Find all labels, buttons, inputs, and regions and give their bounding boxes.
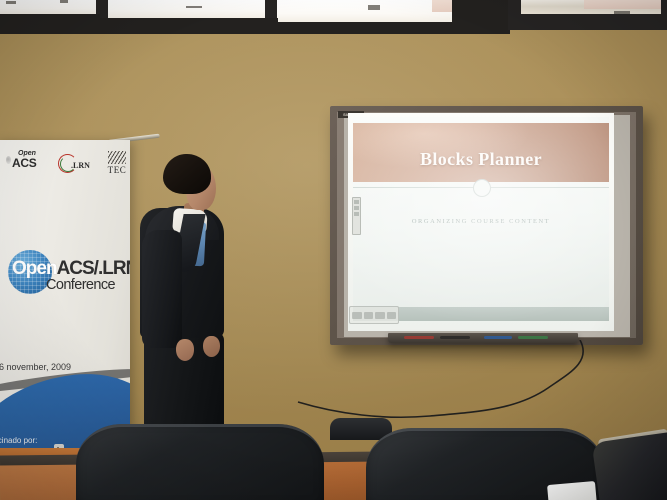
window-glass-3 [277,0,452,22]
toolbar-button-3[interactable] [375,312,385,319]
slide-subtitle: ORGANIZING COURSE CONTENT [353,218,609,225]
clerestory-window-band [0,0,667,34]
toolbar-button-4[interactable] [387,312,397,319]
side-tool-button-1[interactable] [354,200,359,204]
soffit-1 [0,14,100,34]
presentation-slide[interactable]: Blocks Planner ORGANIZING COURSE CONTENT [353,117,609,321]
tec-logo-text: TEC [102,165,130,175]
tec-mark-icon [108,151,126,164]
smart-side-toolbar[interactable] [352,197,361,235]
conference-banner: Open ACS .LRN TEC OpenACS/.LRN Conferenc… [0,140,130,460]
green-pen[interactable] [518,336,548,339]
presenter-hair [163,154,211,194]
window-object-4 [368,5,380,10]
dotlrn-logo: .LRN [58,154,92,174]
openacs-logo-line2: ACS [12,157,36,169]
openacs-dot-icon [6,156,11,164]
soffit-gap [452,0,510,34]
window-tint-1 [432,0,452,12]
bag[interactable] [592,432,667,500]
toolbar-button-2[interactable] [364,312,374,319]
window-object-3 [186,6,202,8]
side-tool-button-3[interactable] [354,212,359,216]
presenter-arm [142,230,182,348]
window-object-2 [60,0,68,3]
window-glass-2 [108,0,278,18]
soffit-2 [96,18,278,34]
window-tint-2 [584,0,661,9]
tec-logo: TEC [102,151,130,175]
presentation-control-toolbar[interactable] [349,306,399,324]
chair-left-rim [76,424,324,500]
banner-headline-rest: ACS/.LRN [57,258,130,279]
side-tool-button-2[interactable] [354,206,359,210]
red-pen[interactable] [404,336,434,339]
openacs-logo: Open ACS [12,150,36,169]
black-pen[interactable] [440,336,470,339]
slide-decorative-circle [473,179,491,197]
window-object-1 [6,1,16,4]
banner-headline-open: Open [12,258,57,279]
window-object-5 [614,11,630,14]
chair-left[interactable] [76,424,324,500]
presenter-hand-right [203,336,220,357]
banner-headline-sub: Conference [46,277,115,293]
slide-title: Blocks Planner [353,149,609,170]
soffit-3 [265,22,465,34]
paper-sheet[interactable] [547,481,597,500]
banner-logo-row: Open ACS .LRN TEC [4,148,126,178]
blue-pen[interactable] [484,336,512,339]
toolbar-button-1[interactable] [352,312,362,319]
banner-sponsor-label: atrocinado por: [0,436,37,445]
banner-date: 3 - 6 november, 2009 [0,362,71,372]
projection-screen[interactable]: Blocks Planner ORGANIZING COURSE CONTENT [348,113,614,331]
presenter-hand-left [176,339,194,361]
smart-board-pen-tray[interactable] [388,333,578,343]
banner-headline-block: OpenACS/.LRN Conference [0,248,130,302]
photo-scene: SMART Blocks Planner ORGANIZING COURSE C… [0,0,667,500]
dotlrn-logo-text: .LRN [71,161,90,170]
